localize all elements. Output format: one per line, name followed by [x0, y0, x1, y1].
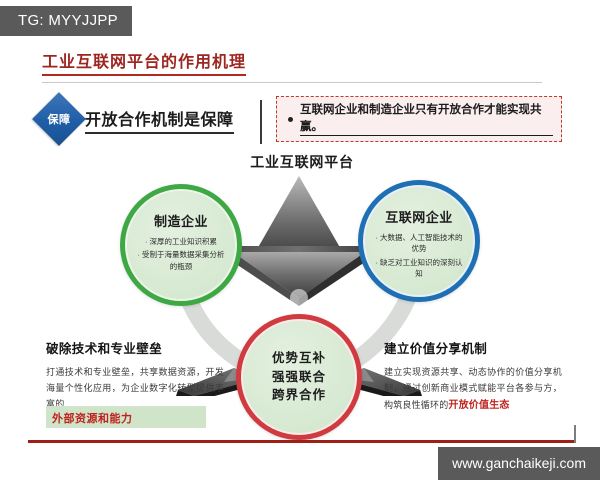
column-heading: 建立价值分享机制: [384, 338, 562, 357]
page-title: 工业互联网平台的作用机理: [42, 48, 246, 76]
circle-title: 制造企业: [154, 211, 208, 230]
circle-bullet: · 大数据、人工智能技术的优势: [375, 232, 463, 255]
bullet-dot-icon: [288, 117, 293, 122]
circle-bullet: · 缺乏对工业知识的深刻认知: [375, 257, 463, 280]
title-divider: [42, 82, 542, 83]
circle-synergy[interactable]: 优势互补 强强联合 跨界合作: [236, 314, 362, 440]
watermark: www.ganchaikeji.com: [438, 447, 600, 480]
column-right: 建立价值分享机制 建立实现资源共享、动态协作的价值分享机制，通过创新商业模式赋能…: [384, 338, 562, 414]
highlight-text: 开放价值生态: [448, 400, 509, 411]
circle-manufacturing[interactable]: 制造企业 · 深厚的工业知识积累 · 受制于海量数据采集分析的瓶颈: [120, 184, 242, 306]
circle-bullets: · 深厚的工业知识积累 · 受制于海量数据采集分析的瓶颈: [125, 236, 237, 274]
bottom-rule: [28, 440, 576, 443]
highlight-band-left: 外部资源和能力: [46, 406, 206, 428]
slide-frame: 工业互联网平台的作用机理 保障 开放合作机制是保障 互联网企业和制造企业只有开放…: [28, 38, 576, 442]
funnel-arrow-icon: [218, 176, 380, 307]
tg-tag: TG: MYYJJPP: [0, 6, 132, 36]
circle-internet[interactable]: 互联网企业 · 大数据、人工智能技术的优势 · 缺乏对工业知识的深刻认知: [358, 180, 480, 302]
slide-canvas: TG: MYYJJPP 工业互联网平台的作用机理 保障 开放合作机制是保障 互联…: [0, 0, 600, 480]
badge-label: 保障: [40, 100, 78, 138]
callout-box: 互联网企业和制造企业只有开放合作才能实现共赢。: [276, 96, 562, 142]
right-tick-mark: [574, 425, 576, 443]
synergy-line: 跨界合作: [272, 386, 326, 405]
circle-bullets: · 大数据、人工智能技术的优势 · 缺乏对工业知识的深刻认知: [363, 232, 475, 281]
circle-title: 互联网企业: [385, 207, 453, 226]
circle-bullet: · 受制于海量数据采集分析的瓶颈: [137, 249, 225, 272]
section-heading: 开放合作机制是保障: [85, 106, 234, 134]
vertical-divider: [260, 100, 262, 144]
callout-text: 互联网企业和制造企业只有开放合作才能实现共赢。: [300, 102, 553, 136]
column-body: 建立实现资源共享、动态协作的价值分享机制，通过创新商业模式赋能平台各参与方，构筑…: [384, 365, 562, 414]
column-heading: 破除技术和专业壁垒: [46, 338, 224, 357]
circle-bullet: · 深厚的工业知识积累: [137, 236, 225, 247]
synergy-line: 优势互补: [272, 349, 326, 368]
highlight-text: 外部资源和能力: [52, 410, 133, 426]
column-left: 破除技术和专业壁垒 打通技术和专业壁垒，共享数据资源，开发海量个性化应用，为企业…: [46, 338, 224, 412]
synergy-line: 强强联合: [272, 368, 326, 387]
